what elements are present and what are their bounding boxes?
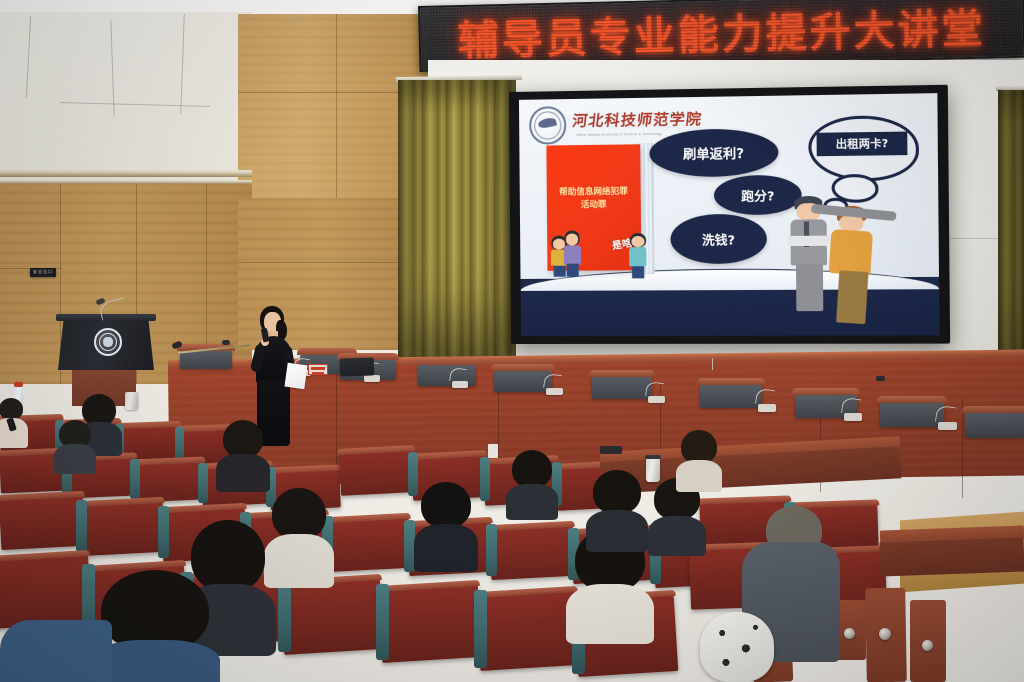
chair-cap xyxy=(415,358,479,365)
person-shoulders xyxy=(648,516,706,556)
seat-knob xyxy=(844,628,855,639)
wall-trim-rail xyxy=(0,170,252,177)
audience-person xyxy=(676,430,722,486)
person-torso xyxy=(0,620,112,682)
seat xyxy=(280,577,384,655)
lecture-hall-photo: 安全出口 辅导员专业能力提升大讲堂 河北科技师范学院 Hebei Normal … xyxy=(0,0,1024,682)
person-head xyxy=(593,470,641,514)
kid-body xyxy=(564,246,581,265)
seat-side-panel xyxy=(376,584,389,660)
dais-seam xyxy=(336,372,337,472)
seat xyxy=(79,500,166,556)
screen-display-area: 河北科技师范学院 Hebei Normal University of Scie… xyxy=(519,93,940,336)
boom-mic-capsule xyxy=(222,340,230,345)
seat xyxy=(489,524,576,580)
wall-mounted-device xyxy=(876,376,885,381)
seat-side-panel xyxy=(175,427,184,461)
polka-dot-bag xyxy=(700,612,774,682)
book-title-line1: 帮助信息网络犯罪 xyxy=(552,186,635,199)
seat-cap xyxy=(323,513,411,524)
exit-sign-label: 安全出口 xyxy=(30,268,56,276)
microphone-gooseneck xyxy=(543,373,562,390)
seat-cap xyxy=(697,495,791,504)
thermos-lid xyxy=(645,455,661,459)
seat xyxy=(378,583,482,663)
seat-knob xyxy=(879,628,891,640)
bottle-cap xyxy=(14,382,23,387)
person-head xyxy=(421,482,471,528)
seat-side-panel xyxy=(76,500,87,552)
led-banner-text: 辅导员专业能力提升大讲堂 xyxy=(420,0,1023,68)
nameplate xyxy=(308,364,328,375)
chair-cap xyxy=(697,378,765,385)
person-head xyxy=(512,450,552,488)
podium xyxy=(58,318,154,370)
audience-person xyxy=(54,420,96,468)
seal-bird-mark xyxy=(538,117,558,130)
seat-side-panel xyxy=(480,457,490,501)
device xyxy=(600,446,622,454)
adult-sweater xyxy=(829,229,873,275)
seat xyxy=(0,494,85,550)
seat-side-panel xyxy=(198,463,208,503)
seat-side-panel xyxy=(278,578,291,652)
person-shoulders xyxy=(566,584,654,644)
audience-person xyxy=(586,470,648,546)
bubble-xiqian: 洗钱? xyxy=(670,213,767,264)
person-shoulders xyxy=(54,444,96,474)
emblem-core xyxy=(103,337,113,348)
book-title: 帮助信息网络犯罪 活动罪 xyxy=(552,186,636,212)
seat xyxy=(133,459,205,502)
paper-cup xyxy=(125,392,138,410)
seat-side-panel xyxy=(486,524,497,576)
cable xyxy=(712,358,713,370)
projection-screen: 河北科技师范学院 Hebei Normal University of Scie… xyxy=(509,85,950,344)
seat-side-panel xyxy=(474,590,487,668)
adult-legs xyxy=(796,264,823,311)
seat-cap xyxy=(487,521,575,532)
panel-seam xyxy=(336,14,337,200)
dais-chair xyxy=(880,400,944,427)
audience-person xyxy=(414,482,478,566)
podium-emblem-icon xyxy=(94,328,122,356)
cartoon-kid-purple xyxy=(562,232,583,277)
dais-chair xyxy=(700,382,762,408)
seat xyxy=(339,448,415,496)
person-head xyxy=(272,488,326,540)
curtain-left xyxy=(398,80,516,362)
person-head xyxy=(223,420,263,458)
seat-knob xyxy=(922,640,933,651)
person-shoulders xyxy=(414,524,478,572)
seat xyxy=(325,516,412,572)
person-shoulders xyxy=(216,454,270,492)
person-shoulders xyxy=(676,460,722,492)
kid-legs xyxy=(632,266,645,279)
seat-cap xyxy=(474,586,578,598)
seat-cap xyxy=(0,550,90,562)
dais-chair xyxy=(965,410,1024,438)
audience-person xyxy=(506,450,558,514)
chair-cap xyxy=(589,370,655,377)
kid-legs xyxy=(566,264,578,277)
chair-cap xyxy=(792,388,860,395)
university-name-cn: 河北科技师范学院 xyxy=(571,108,703,131)
seat-cap xyxy=(159,503,247,514)
person-shoulders xyxy=(506,484,558,520)
cartoon-kid-teal xyxy=(627,233,649,278)
book-title-line2: 活动罪 xyxy=(552,198,635,211)
seat xyxy=(476,589,580,671)
dais-seam xyxy=(962,398,963,498)
university-seal-icon xyxy=(529,106,566,144)
seat xyxy=(0,553,92,629)
chair-cap xyxy=(491,364,555,371)
paper-cup xyxy=(488,444,498,458)
chair-cap xyxy=(962,406,1024,413)
desk-underside xyxy=(879,537,1024,576)
microphone-gooseneck xyxy=(449,367,467,383)
cartoon-adult-orange xyxy=(825,205,877,323)
person-shoulders xyxy=(586,510,648,552)
seat-cap xyxy=(115,421,181,429)
kid-head xyxy=(566,234,579,245)
chair-cap xyxy=(877,396,947,403)
laptop-lid xyxy=(340,357,375,376)
seat-side-panel xyxy=(130,459,140,499)
seat-side-panel xyxy=(158,506,169,558)
adult-trousers xyxy=(836,271,869,325)
bubble-chuzuliangka: 出租两卡? xyxy=(816,131,908,156)
kid-body xyxy=(629,247,647,266)
exit-sign: 安全出口 xyxy=(30,268,56,277)
seat-cap xyxy=(77,497,165,508)
person-head xyxy=(681,430,717,464)
left-upper-wall xyxy=(0,12,252,188)
seat-cap xyxy=(376,580,480,592)
adult-paper-roll xyxy=(788,235,830,246)
microphone-gooseneck xyxy=(645,381,664,398)
audience-person xyxy=(216,420,270,486)
curtain-right xyxy=(998,90,1024,362)
dais-chair xyxy=(592,374,652,399)
speaker-papers xyxy=(284,363,307,390)
laptop xyxy=(340,357,375,376)
